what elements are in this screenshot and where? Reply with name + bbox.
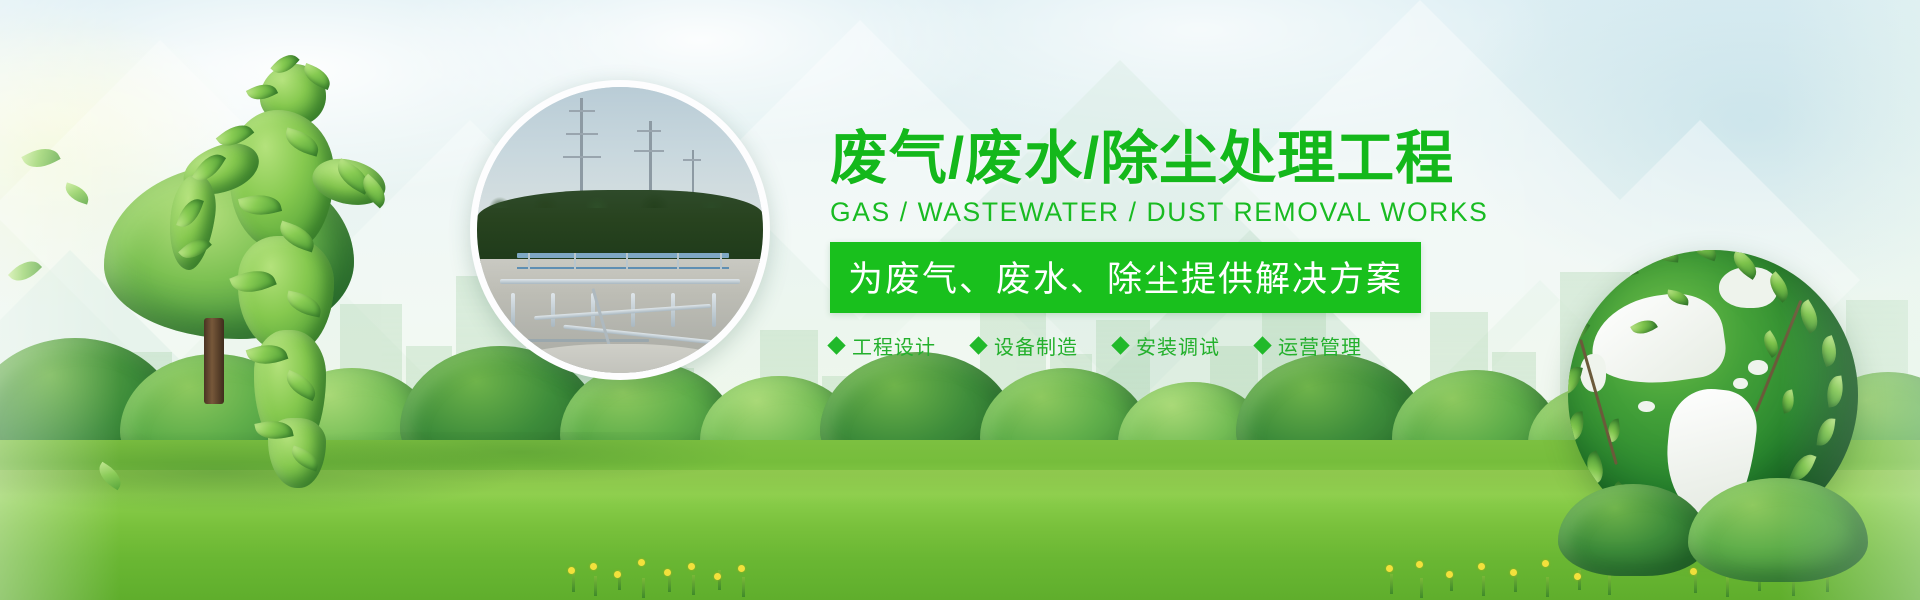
feature-label: 设备制造 [994,331,1078,360]
banner-text-block: 废气/废水/除尘处理工程 GAS / WASTEWATER / DUST REM… [830,128,1510,360]
island [1748,360,1768,375]
flower-cluster [560,540,770,600]
diamond-icon [1253,336,1271,354]
feature-list: 工程设计 设备制造 安装调试 运营管理 [830,331,1510,360]
left-edge-fade [0,0,120,600]
wastewater-plant-photo [470,80,770,380]
feature-label: 安装调试 [1136,331,1220,360]
feature-item: 设备制造 [972,331,1078,360]
slogan-banner: 为废气、废水、除尘提供解决方案 [830,242,1421,313]
subtitle-english: GAS / WASTEWATER / DUST REMOVAL WORKS [830,197,1510,228]
continent-north-america [1586,288,1730,393]
diamond-icon [1111,336,1129,354]
feature-item: 安装调试 [1114,331,1220,360]
feature-item: 工程设计 [830,331,936,360]
feature-label: 工程设计 [852,331,936,360]
leaf-person-figure [152,54,404,484]
island [1733,378,1748,390]
feature-label: 运营管理 [1278,331,1362,360]
island [1638,401,1655,413]
page-title: 废气/废水/除尘处理工程 [830,128,1510,191]
diamond-icon [969,336,987,354]
eco-engineering-banner: 废气/废水/除尘处理工程 GAS / WASTEWATER / DUST REM… [0,0,1920,600]
slogan-text: 为废气、废水、除尘提供解决方案 [848,260,1403,299]
feature-item: 运营管理 [1256,331,1362,360]
diamond-icon [827,336,845,354]
right-edge-fade [1780,0,1920,600]
